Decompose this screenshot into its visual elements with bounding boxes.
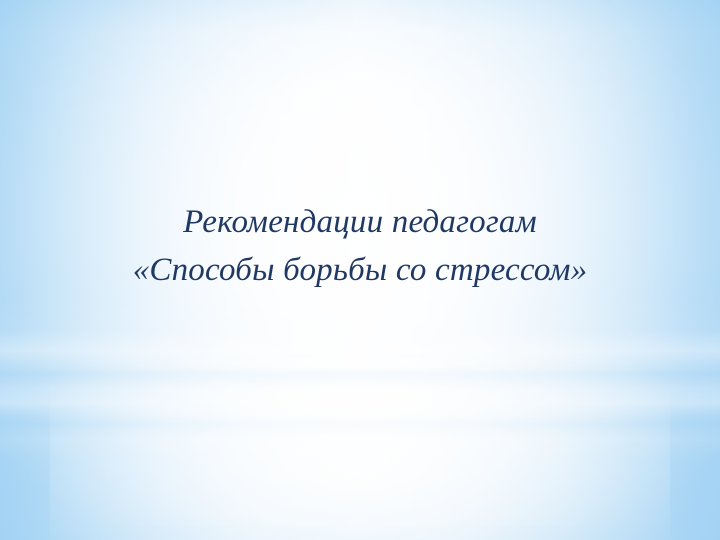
presentation-slide: Рекомендации педагогам «Способы борьбы с… bbox=[0, 0, 720, 540]
slide-title-line-2: «Способы борьбы со стрессом» bbox=[48, 246, 672, 294]
background-lower-glow bbox=[50, 334, 670, 540]
slide-title-block: Рекомендации педагогам «Способы борьбы с… bbox=[0, 198, 720, 294]
background-horizon-bands bbox=[0, 330, 720, 460]
slide-title-line-1: Рекомендации педагогам bbox=[48, 198, 672, 246]
